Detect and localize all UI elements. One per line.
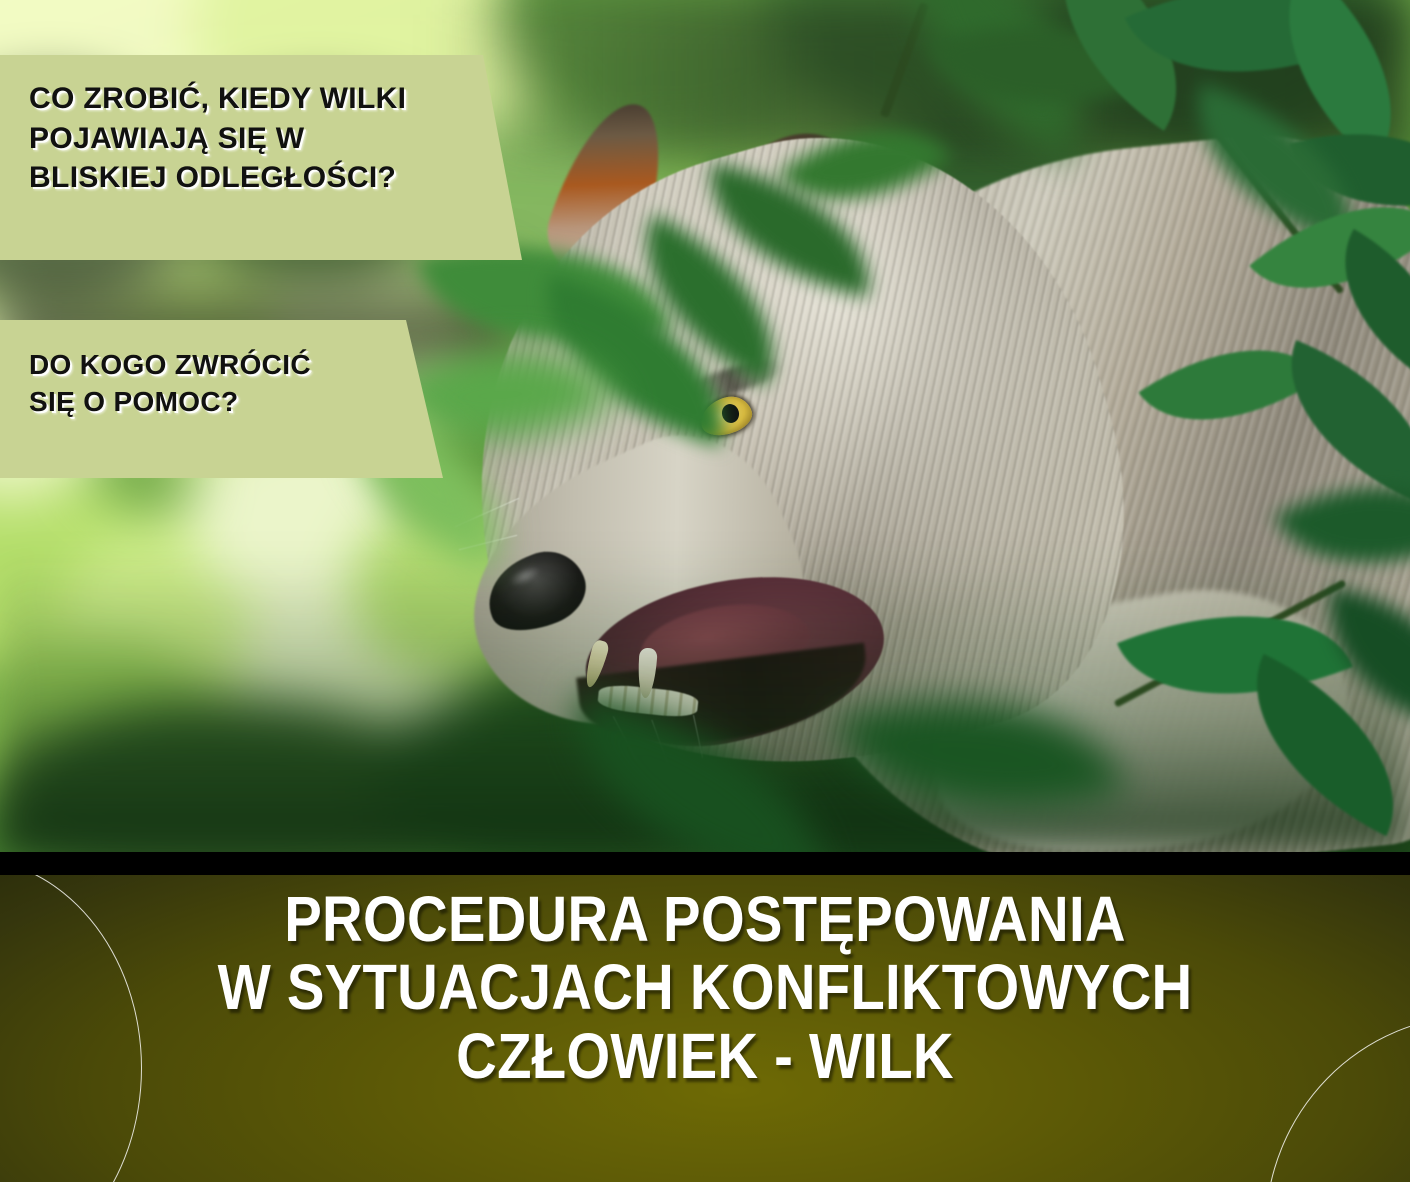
poster: CO ZROBIĆ, KIEDY WILKI POJAWIAJĄ SIĘ W B… (0, 0, 1410, 1182)
callout-question-proximity-text: CO ZROBIĆ, KIEDY WILKI POJAWIAJĄ SIĘ W B… (29, 79, 499, 198)
callout-question-help: DO KOGO ZWRÓCIĆ SIĘ O POMOC? (0, 320, 448, 478)
title-banner: PROCEDURA POSTĘPOWANIA W SYTUACJACH KONF… (0, 875, 1410, 1182)
callout-question-help-text: DO KOGO ZWRÓCIĆ SIĘ O POMOC? (29, 347, 429, 421)
wolf-photo: CO ZROBIĆ, KIEDY WILKI POJAWIAJĄ SIĘ W B… (0, 0, 1410, 852)
callout-question-proximity: CO ZROBIĆ, KIEDY WILKI POJAWIAJĄ SIĘ W B… (0, 55, 525, 260)
black-divider (0, 852, 1410, 875)
banner-title: PROCEDURA POSTĘPOWANIA W SYTUACJACH KONF… (85, 885, 1326, 1090)
